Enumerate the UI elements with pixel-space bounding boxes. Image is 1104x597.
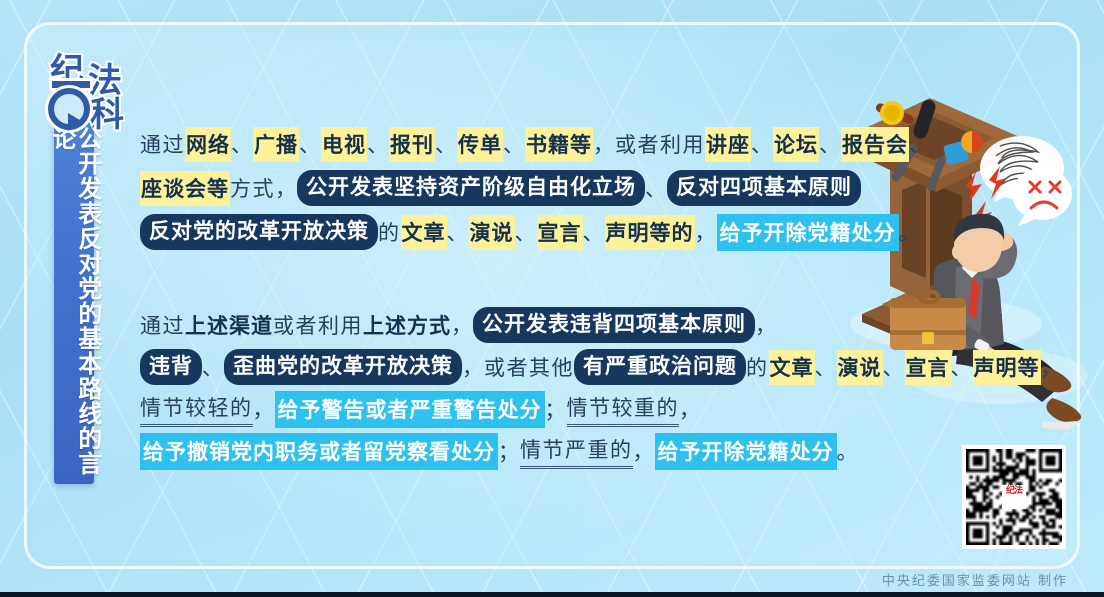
highlight-yellow-run: 广播 [253,127,299,162]
pill-navy-run: 反对党的改革开放决策 [140,214,378,249]
bold-text-run: 上述渠道 [185,310,273,340]
logo-char-bai [48,78,102,134]
punctuation-run: 、 [503,129,525,159]
text-run: 的 [746,352,769,382]
highlight-cyan-run: 给予撤销党内职务或者留党察看处分 [140,433,498,470]
punctuation-run: 、 [447,217,469,247]
pill-navy-run: 有严重政治问题 [574,349,746,384]
highlight-yellow-run: 讲座 [705,127,751,162]
text-line: 通过网络、广播、电视、报刊、传单、书籍等，或者利用讲座、论坛、报告会、 [140,122,870,166]
highlight-yellow-run: 演说 [837,350,883,385]
text-run: 或者利用 [273,310,363,340]
text-run: 方式 [230,173,275,203]
highlight-yellow-run: 报告会 [841,127,909,162]
punctuation-run: 、 [751,129,773,159]
punctuation-run: 、 [299,129,321,159]
highlight-yellow-run: 电视 [321,127,367,162]
punctuation-run: ； [498,436,520,466]
text-line: 违背、歪曲党的改革开放决策，或者其他有严重政治问题的文章、演说、宣言、声明等， [140,346,870,388]
punctuation-run: ， [755,310,777,340]
punctuation-run: ， [695,217,717,247]
punctuation-run: ； [545,394,567,424]
highlight-yellow-run: 论坛 [773,127,819,162]
pill-navy-run: 公开发表违背四项基本原则 [473,307,755,342]
punctuation-run: 。 [899,217,921,247]
qr-center-logo: 纪法 [1002,485,1026,509]
highlight-yellow-run: 报刊 [389,127,435,162]
briefcase [890,292,966,350]
highlight-yellow-run: 网络 [185,127,231,162]
underlined-text-run: 情节较轻的 [140,392,253,427]
pill-navy-run: 违背 [140,349,202,384]
punctuation-run: 、 [231,129,253,159]
punctuation-run: ， [679,394,701,424]
vertical-title-text: 公开发表反对党的基本路线的言论 [48,126,100,484]
article-body: 通过网络、广播、电视、报刊、传单、书籍等，或者利用讲座、论坛、报告会、 座谈会等… [140,122,870,482]
bold-text-run: 上述方式 [363,310,451,340]
highlight-yellow-run: 传单 [457,127,503,162]
highlight-yellow-run: 演说 [469,215,515,250]
punctuation-run: ， [593,129,615,159]
punctuation-run: ， [275,173,297,203]
text-line: 给予撤销党内职务或者留党察看处分；情节严重的，给予开除党籍处分。 [140,430,870,472]
punctuation-run: 、 [367,129,389,159]
highlight-yellow-run: 座谈会等 [140,171,230,206]
highlight-yellow-run: 声明等 [973,350,1041,385]
punctuation-run: ， [462,352,484,382]
punctuation-run: 、 [645,173,667,203]
punctuation-run: ， [253,394,275,424]
highlight-yellow-run: 书籍等 [525,127,593,162]
underlined-text-run: 情节较重的 [567,392,680,427]
brand-logo: 纪 法 科 [48,52,152,140]
text-line: 反对党的改革开放决策的文章、演说、宣言、声明等的，给予开除党籍处分。 [140,210,870,254]
qr-code[interactable]: 纪法 [962,445,1066,549]
text-run: 或者其他 [484,352,574,382]
play-circle-icon [48,88,90,130]
punctuation-run: ， [1041,352,1063,382]
text-run: 或者利用 [615,129,705,159]
paragraph-1: 通过网络、广播、电视、报刊、传单、书籍等，或者利用讲座、论坛、报告会、 座谈会等… [140,122,870,254]
underlined-text-run: 情节严重的 [520,434,633,469]
pill-navy-run: 歪曲党的改革开放决策 [224,349,462,384]
punctuation-run: 、 [883,352,905,382]
highlight-yellow-run: 声明等的 [605,215,695,250]
highlight-cyan-run: 给予开除党籍处分 [717,214,899,251]
punctuation-run: 、 [815,352,837,382]
bottom-strip [0,592,1104,597]
highlight-yellow-run: 文章 [769,350,815,385]
sad-face-icon [1012,168,1072,226]
punctuation-run: 、 [819,129,841,159]
highlight-yellow-run: 宣言 [537,215,583,250]
pill-navy-run: 公开发表坚持资产阶级自由化立场 [297,170,645,205]
text-run: 的 [378,217,401,247]
highlight-yellow-run: 宣言 [905,350,951,385]
paragraph-2: 通过上述渠道或者利用上述方式，公开发表违背四项基本原则， 违背、歪曲党的改革开放… [140,304,870,472]
pill-navy-run: 反对四项基本原则 [667,170,861,205]
punctuation-run: ， [633,436,655,466]
punctuation-run: 、 [583,217,605,247]
poster-canvas: 纪 法 科 公开发表反对党的基本路线的言论 通过网络、广播、电视、报刊、传单、书… [0,0,1104,597]
punctuation-run: 、 [435,129,457,159]
text-line: 通过上述渠道或者利用上述方式，公开发表违背四项基本原则， [140,304,870,346]
vertical-title-banner: 公开发表反对党的基本路线的言论 [54,118,94,484]
highlight-yellow-run: 文章 [401,215,447,250]
punctuation-run: 、 [515,217,537,247]
punctuation-run: ， [451,310,473,340]
play-icon [68,113,83,131]
punctuation-run: 、 [202,352,224,382]
text-run: 通过 [140,310,185,340]
footer-credit: 中央纪委国家监委网站 制作 [882,570,1068,589]
punctuation-run: 、 [951,352,973,382]
highlight-cyan-run: 给予开除党籍处分 [655,433,837,470]
highlight-cyan-run: 给予警告或者严重警告处分 [275,391,545,428]
text-line: 情节较轻的，给予警告或者严重警告处分；情节较重的， [140,388,870,430]
punctuation-run: 、 [909,129,931,159]
text-line: 座谈会等方式，公开发表坚持资产阶级自由化立场、反对四项基本原则 [140,166,870,210]
punctuation-run: 。 [837,436,859,466]
qr-logo-line1: 纪法 [1006,486,1022,496]
paragraph-gap [140,264,870,304]
